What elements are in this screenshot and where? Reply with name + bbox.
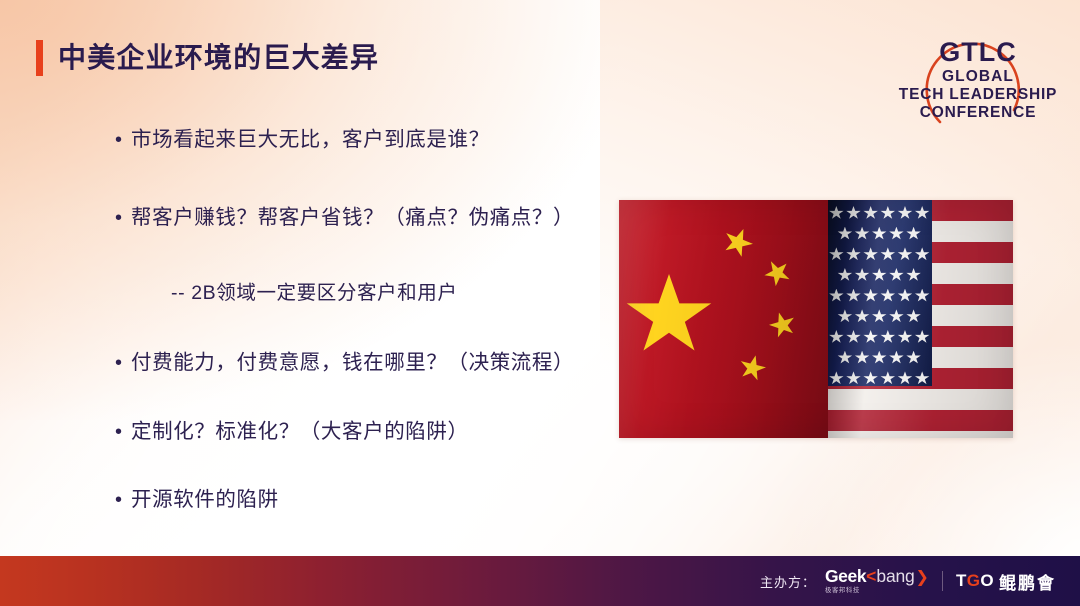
star-icon [759,254,796,291]
list-item: • 帮客户赚钱？帮客户省钱？（痛点？伪痛点？） [115,206,635,231]
star-icon [889,227,904,241]
star-icon [880,289,895,303]
star-icon [889,351,904,365]
title-accent-bar [36,40,43,76]
star-icon [906,227,921,241]
star-icon [915,330,930,344]
star-icon [897,330,912,344]
geekbang-geek-text: Geek [825,568,866,586]
geekbang-subtitle: 极客邦科技 [825,588,860,594]
star-icon [766,309,799,341]
star-icon [880,371,895,385]
star-icon [736,352,768,384]
sub-list-item: -- 2B领域一定要区分客户和用户 [171,276,635,305]
star-icon [880,206,895,220]
star-icon [872,351,887,365]
bullet-marker: • [115,420,131,444]
spacer [115,305,635,351]
usa-flag [828,200,1013,438]
list-item: • 付费能力，付费意愿，钱在哪里？（决策流程） [115,351,635,376]
geekbang-wordmark: Geek < bang ❯ [825,568,929,586]
star-icon [863,206,878,220]
bullet-text: 帮客户赚钱？帮客户省钱？（痛点？伪痛点？） [131,206,635,231]
bullet-text: 市场看起来巨大无比，客户到底是谁？ [131,128,635,153]
star-icon [625,274,713,358]
tgo-chinese-name: 鲲鹏會 [999,569,1056,594]
tgo-wordmark: TGO [956,571,994,591]
footer-divider [942,571,943,591]
star-icon [897,371,912,385]
star-icon [872,268,887,282]
star-icon [915,206,930,220]
geekbang-bracket-icon: < [866,568,876,586]
star-icon [829,330,844,344]
tgo-letter-g: G [967,571,981,590]
star-icon [863,289,878,303]
tgo-logo: TGO 鲲鹏會 [956,569,1056,594]
star-icon [837,268,852,282]
star-icon [915,371,930,385]
star-icon [846,289,861,303]
china-flag [619,200,828,438]
footer-sponsors: 主办方： Geek < bang ❯ 极客邦科技 TGO 鲲鹏會 [760,556,1056,606]
star-icon [915,289,930,303]
china-us-flags-photo [619,200,1013,438]
bullet-marker: • [115,351,131,375]
arrow-icon: ❯ [916,570,929,586]
star-icon [846,206,861,220]
spacer [115,376,635,420]
star-icon [897,247,912,261]
title-text: 中美企业环境的巨大差异 [58,44,379,72]
list-item: • 开源软件的陷阱 [115,488,635,513]
star-icon [837,351,852,365]
spacer [115,230,635,276]
bullet-marker: • [115,128,131,152]
star-icon [897,289,912,303]
star-icon [906,351,921,365]
tgo-letter-o: O [980,571,994,590]
star-icon [889,268,904,282]
page-title: 中美企业环境的巨大差异 [36,40,379,76]
host-label: 主办方： [760,572,816,591]
gtlc-arc-icon [898,26,1058,136]
list-item: • 定制化？标准化？（大客户的陷阱） [115,420,635,445]
star-icon [880,247,895,261]
star-icon [837,309,852,323]
bullet-text: 付费能力，付费意愿，钱在哪里？（决策流程） [131,351,635,376]
star-icon [872,227,887,241]
star-icon [863,247,878,261]
bullet-marker: • [115,206,131,230]
star-icon [855,268,870,282]
star-icon [829,206,844,220]
star-icon [863,330,878,344]
bullet-list: • 市场看起来巨大无比，客户到底是谁？ • 帮客户赚钱？帮客户省钱？（痛点？伪痛… [115,128,635,513]
star-icon [855,309,870,323]
geekbang-bang-text: bang [876,568,914,586]
star-icon [829,289,844,303]
bullet-text: 开源软件的陷阱 [131,488,635,513]
star-icon [846,371,861,385]
star-icon [837,227,852,241]
gtlc-logo: GTLC GLOBAL TECH LEADERSHIP CONFERENCE [898,26,1058,136]
slide-canvas: 中美企业环境的巨大差异 GTLC GLOBAL TECH LEADERSHIP … [0,0,1080,606]
star-icon [863,371,878,385]
bullet-marker: • [115,488,131,512]
star-icon [915,247,930,261]
star-icon [880,330,895,344]
footer-bar: 主办方： Geek < bang ❯ 极客邦科技 TGO 鲲鹏會 [0,556,1080,606]
usa-flag-canton [828,200,932,386]
star-icon [906,268,921,282]
star-icon [829,371,844,385]
star-icon [906,309,921,323]
list-item: • 市场看起来巨大无比，客户到底是谁？ [115,128,635,153]
star-icon [897,206,912,220]
star-icon [719,223,758,261]
tgo-letter-t: T [956,571,967,590]
spacer [115,444,635,488]
star-icon [829,247,844,261]
bullet-text: 定制化？标准化？（大客户的陷阱） [131,420,635,445]
star-icon [855,351,870,365]
spacer [115,153,635,206]
star-icon [872,309,887,323]
star-icon [846,330,861,344]
star-icon [846,247,861,261]
star-icon [889,309,904,323]
star-icon [855,227,870,241]
geekbang-logo: Geek < bang ❯ 极客邦科技 [825,568,929,594]
